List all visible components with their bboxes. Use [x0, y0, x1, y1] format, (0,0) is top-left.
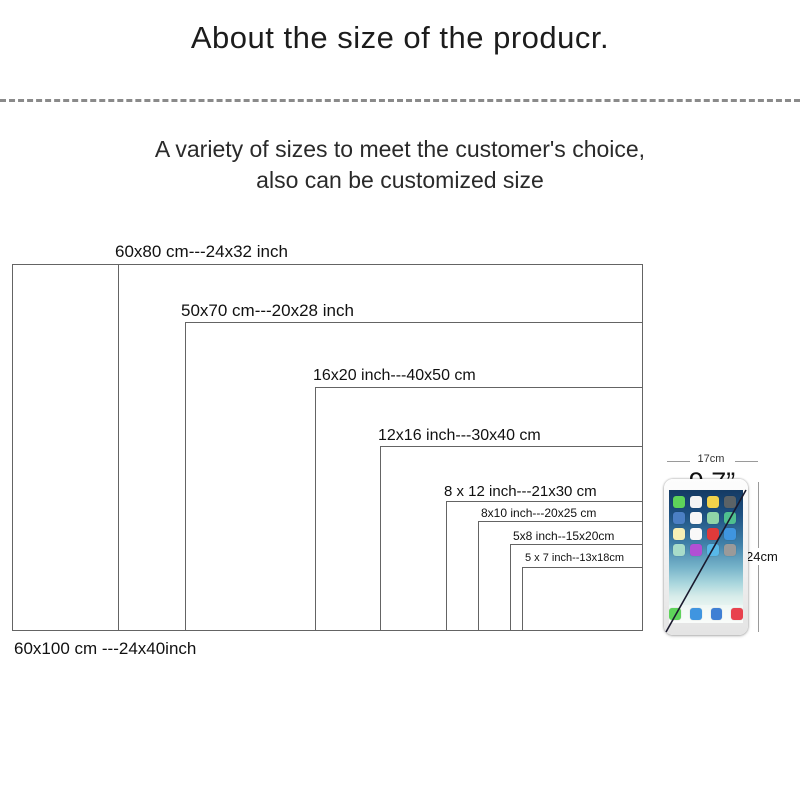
- videos-icon: [724, 512, 736, 524]
- gamecenter-icon: [673, 544, 685, 556]
- size-rect-13x18cm: [522, 567, 643, 631]
- tablet-dock: [669, 605, 743, 623]
- size-label-30x40cm: 12x16 inch---30x40 cm: [378, 428, 541, 444]
- size-label-21x30cm: 8 x 12 inch---21x30 cm: [444, 484, 597, 499]
- tablet-height-label: 24cm: [744, 548, 780, 565]
- reminders-icon: [690, 528, 702, 540]
- size-label-40x50cm: 16x20 inch---40x50 cm: [313, 368, 476, 384]
- tablet-body: [664, 479, 748, 635]
- camera-icon: [724, 496, 736, 508]
- app-icon-grid: [673, 496, 739, 556]
- tablet-screen: [669, 490, 743, 623]
- music-icon: [731, 608, 743, 620]
- news-icon: [707, 528, 719, 540]
- size-label-13x18cm: 5 x 7 inch--13x18cm: [525, 553, 624, 564]
- mail-icon: [690, 608, 702, 620]
- tablet-width-label: 17cm: [666, 453, 756, 465]
- messages-icon: [673, 496, 685, 508]
- contacts-icon: [673, 512, 685, 524]
- itunes-icon: [690, 544, 702, 556]
- size-label-50x70cm: 50x70 cm---20x28 inch: [181, 302, 354, 319]
- calendar-icon: [690, 496, 702, 508]
- size-label-60x100cm: 60x100 cm ---24x40inch: [14, 640, 196, 657]
- photobooth-icon: [724, 528, 736, 540]
- appstore-icon: [707, 544, 719, 556]
- size-comparison-chart: 60x100 cm ---24x40inch60x80 cm---24x32 i…: [0, 0, 800, 800]
- photos-icon: [707, 496, 719, 508]
- settings-icon: [724, 544, 736, 556]
- notes-icon: [673, 528, 685, 540]
- size-label-15x20cm: 5x8 inch--15x20cm: [513, 530, 614, 542]
- clock-icon: [690, 512, 702, 524]
- phone-icon: [669, 608, 681, 620]
- tablet-illustration: 17cm 9.7” 24cm: [652, 450, 800, 640]
- size-chart-page: About the size of the producr. A variety…: [0, 0, 800, 800]
- maps-icon: [707, 512, 719, 524]
- safari-icon: [711, 608, 723, 620]
- size-label-20x25cm: 8x10 inch---20x25 cm: [481, 507, 596, 519]
- size-label-60x80cm: 60x80 cm---24x32 inch: [115, 243, 288, 260]
